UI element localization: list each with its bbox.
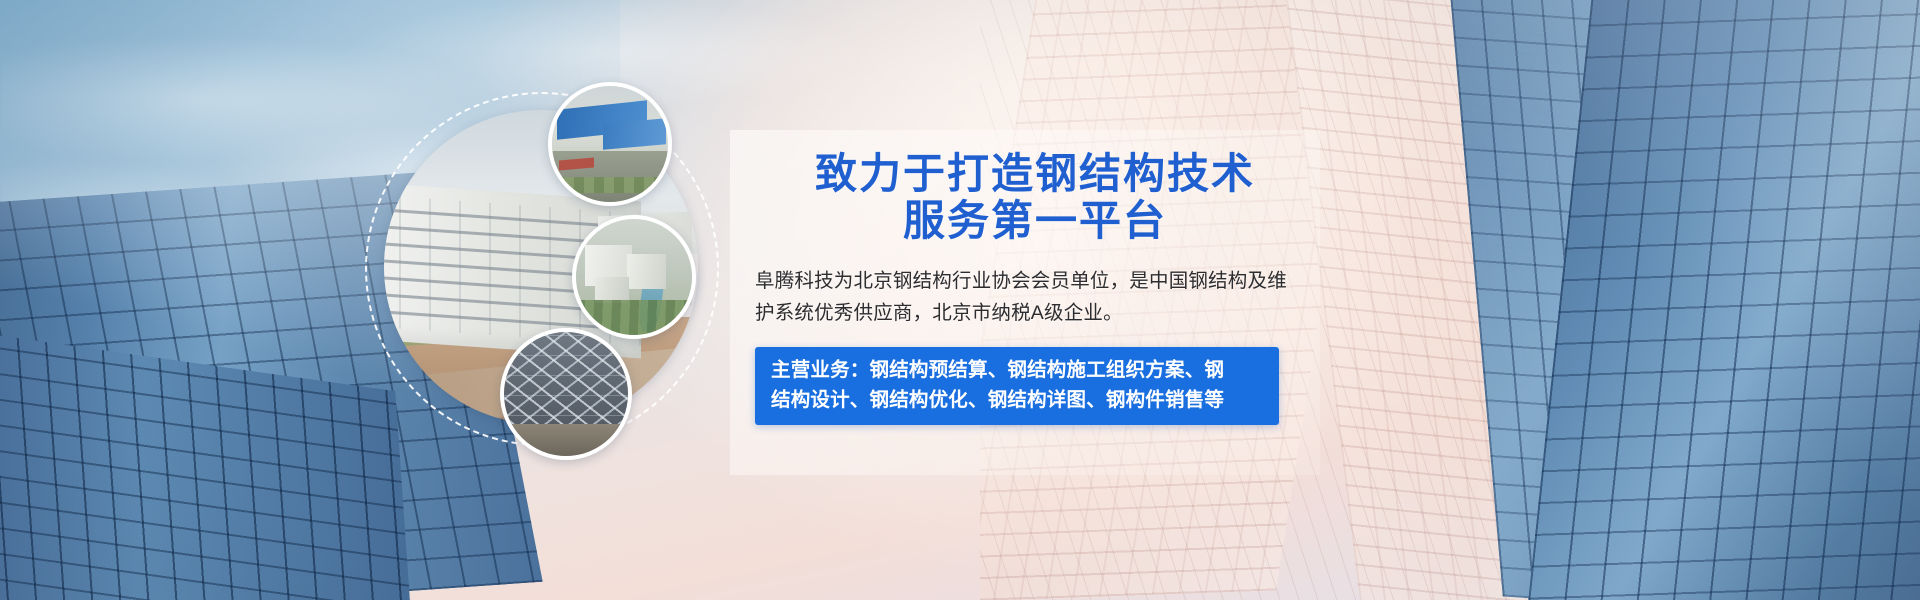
services-badge: 主营业务：钢结构预结算、钢结构施工组织方案、钢 结构设计、钢结构优化、钢结构详图… <box>755 347 1279 425</box>
thumb-photo-circle-3 <box>500 328 632 460</box>
hero-banner: 致力于打造钢结构技术 服务第一平台 阜腾科技为北京钢结构行业协会会员单位，是中国… <box>0 0 1920 600</box>
photo-bubble-group <box>360 40 780 520</box>
banner-description: 阜腾科技为北京钢结构行业协会会员单位，是中国钢结构及维 护系统优秀供应商，北京市… <box>755 266 1295 329</box>
banner-headline: 致力于打造钢结构技术 服务第一平台 <box>755 150 1315 244</box>
thumb-photo-circle-1 <box>548 82 672 206</box>
thumb-photo-circle-2 <box>572 215 696 339</box>
banner-content: 致力于打造钢结构技术 服务第一平台 阜腾科技为北京钢结构行业协会会员单位，是中国… <box>755 150 1315 425</box>
